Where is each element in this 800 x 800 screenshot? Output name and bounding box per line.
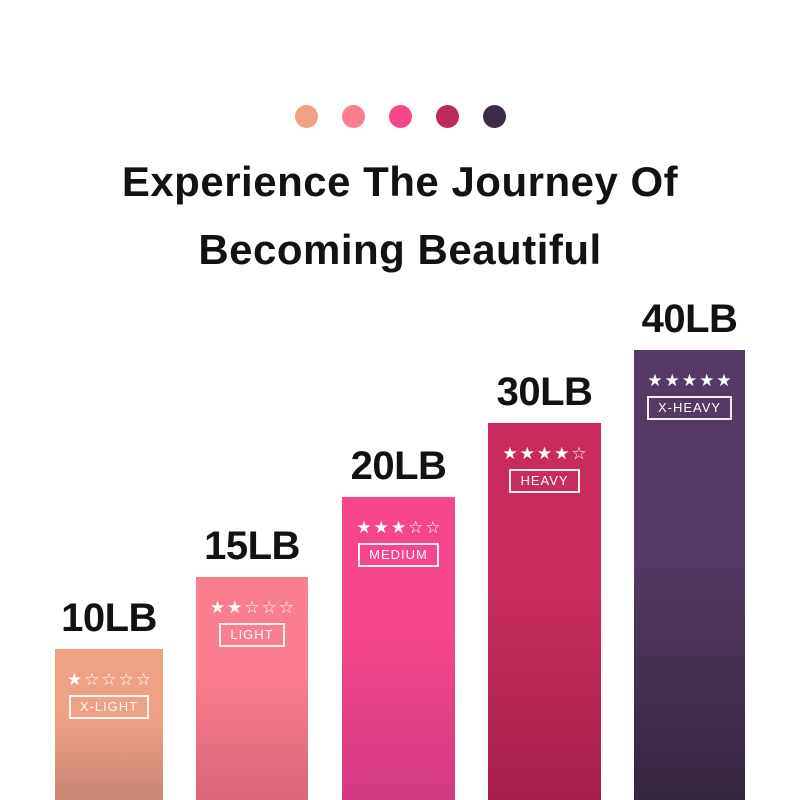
star-filled-icon: ★ xyxy=(374,519,389,536)
rating-stars: ★★★★★ xyxy=(647,372,731,389)
bar-column[interactable]: 15LB★★☆☆☆LIGHT xyxy=(196,577,308,800)
star-filled-icon: ★ xyxy=(67,671,82,688)
promo-banner: Experience The Journey Of Becoming Beaut… xyxy=(0,0,800,800)
star-empty-icon: ☆ xyxy=(136,671,151,688)
bar-weight-label: 10LB xyxy=(61,596,157,641)
star-empty-icon: ☆ xyxy=(244,599,259,616)
star-empty-icon: ☆ xyxy=(408,519,423,536)
bar-level-label: X-HEAVY xyxy=(647,396,732,420)
star-empty-icon: ☆ xyxy=(279,599,294,616)
bar-column[interactable]: 40LB★★★★★X-HEAVY xyxy=(634,350,745,800)
bar-level-label: HEAVY xyxy=(509,469,579,493)
bar-column[interactable]: 30LB★★★★☆HEAVY xyxy=(488,423,601,800)
star-filled-icon: ★ xyxy=(682,372,697,389)
bar-weight-label: 20LB xyxy=(351,444,447,489)
bar-column[interactable]: 10LB★☆☆☆☆X-LIGHT xyxy=(55,649,163,800)
resistance-band-bar-chart: 10LB★☆☆☆☆X-LIGHT15LB★★☆☆☆LIGHT20LB★★★☆☆M… xyxy=(0,0,800,800)
rating-stars: ★★☆☆☆ xyxy=(210,599,294,616)
bar-fill: ★☆☆☆☆X-LIGHT xyxy=(55,649,163,800)
rating-stars: ★★★★☆ xyxy=(502,445,586,462)
star-filled-icon: ★ xyxy=(699,372,714,389)
bar-badge: ★☆☆☆☆X-LIGHT xyxy=(55,671,163,719)
bar-fill: ★★★☆☆MEDIUM xyxy=(342,497,455,800)
bar-weight-label: 30LB xyxy=(497,370,593,415)
rating-stars: ★★★☆☆ xyxy=(356,519,440,536)
star-filled-icon: ★ xyxy=(537,445,552,462)
star-filled-icon: ★ xyxy=(502,445,517,462)
star-empty-icon: ☆ xyxy=(262,599,277,616)
bar-badge: ★★★★☆HEAVY xyxy=(488,445,601,493)
star-filled-icon: ★ xyxy=(210,599,225,616)
star-empty-icon: ☆ xyxy=(571,445,586,462)
star-empty-icon: ☆ xyxy=(101,671,116,688)
bar-column[interactable]: 20LB★★★☆☆MEDIUM xyxy=(342,497,455,800)
star-filled-icon: ★ xyxy=(665,372,680,389)
bar-level-label: X-LIGHT xyxy=(69,695,149,719)
star-empty-icon: ☆ xyxy=(119,671,134,688)
star-filled-icon: ★ xyxy=(227,599,242,616)
star-empty-icon: ☆ xyxy=(84,671,99,688)
bar-level-label: MEDIUM xyxy=(358,543,439,567)
bar-badge: ★★★☆☆MEDIUM xyxy=(342,519,455,567)
star-filled-icon: ★ xyxy=(716,372,731,389)
star-filled-icon: ★ xyxy=(554,445,569,462)
bar-fill: ★★★★☆HEAVY xyxy=(488,423,601,800)
star-filled-icon: ★ xyxy=(356,519,371,536)
bar-fill: ★★☆☆☆LIGHT xyxy=(196,577,308,800)
bar-badge: ★★☆☆☆LIGHT xyxy=(196,599,308,647)
bar-level-label: LIGHT xyxy=(219,623,284,647)
rating-stars: ★☆☆☆☆ xyxy=(67,671,151,688)
star-filled-icon: ★ xyxy=(520,445,535,462)
bar-weight-label: 40LB xyxy=(642,297,738,342)
bar-weight-label: 15LB xyxy=(204,524,300,569)
star-filled-icon: ★ xyxy=(647,372,662,389)
bar-badge: ★★★★★X-HEAVY xyxy=(634,372,745,420)
star-empty-icon: ☆ xyxy=(425,519,440,536)
star-filled-icon: ★ xyxy=(391,519,406,536)
bar-fill: ★★★★★X-HEAVY xyxy=(634,350,745,800)
